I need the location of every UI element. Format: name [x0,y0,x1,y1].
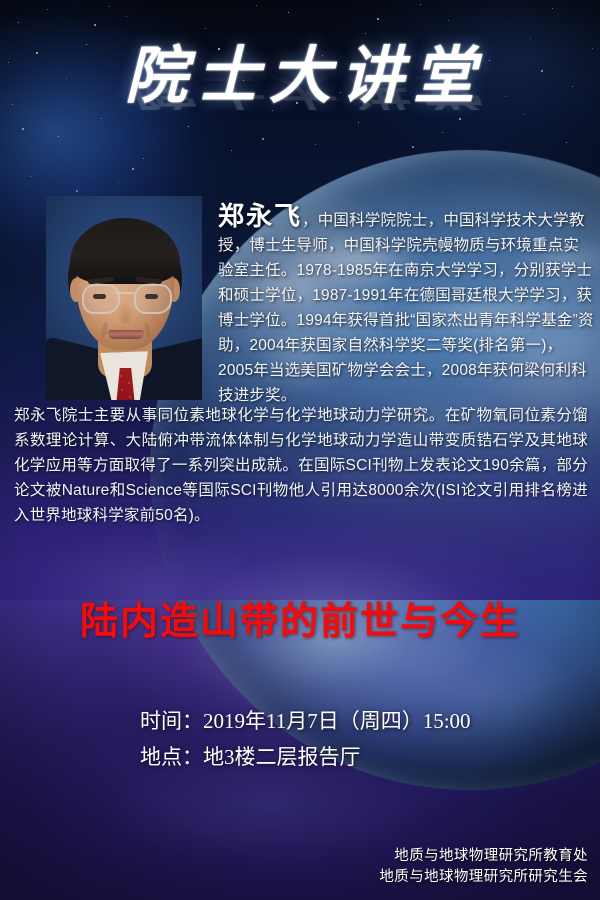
poster-content: 院士大讲堂 院士大讲堂 [0,0,600,900]
portrait-hair [70,218,180,284]
event-time: 时间：2019年11月7日（周四）15:00 [140,703,560,739]
portrait-eyeglass-lens-right [134,284,172,314]
speaker-name: 郑永飞 [218,201,302,231]
portrait-background [46,196,202,400]
masthead: 院士大讲堂 院士大讲堂 [0,46,600,172]
speaker-bio-intro-block: 郑永飞，中国科学院院士，中国科学技术大学教授，博士生导师，中国科学院壳幔物质与环… [218,196,594,408]
portrait-nose [117,300,134,324]
lecture-poster: 院士大讲堂 院士大讲堂 [0,0,600,900]
speaker-bio-research: 郑永飞院士主要从事同位素地球化学与化学地球动力学研究。在矿物氧同位素分馏系数理论… [14,403,588,528]
event-details: 时间：2019年11月7日（周四）15:00 地点：地3楼二层报告厅 [140,703,560,775]
lecture-title: 陆内造山带的前世与今生 [0,590,600,645]
portrait-eyeglass-lens-left [82,284,120,314]
organizers: 地质与地球物理研究所教育处 地质与地球物理研究所研究生会 [379,846,588,888]
masthead-title-reflection: 院士大讲堂 [0,72,600,110]
speaker-bio-intro: ，中国科学院院士，中国科学技术大学教授，博士生导师，中国科学院壳幔物质与环境重点… [218,212,594,404]
portrait-eyeglass-bridge [116,292,134,294]
portrait-mouth [108,330,144,339]
speaker-portrait [46,196,202,400]
organizer-graduate-association: 地质与地球物理研究所研究生会 [379,867,588,888]
event-location: 地点：地3楼二层报告厅 [140,739,560,775]
organizer-education-office: 地质与地球物理研究所教育处 [379,846,588,867]
